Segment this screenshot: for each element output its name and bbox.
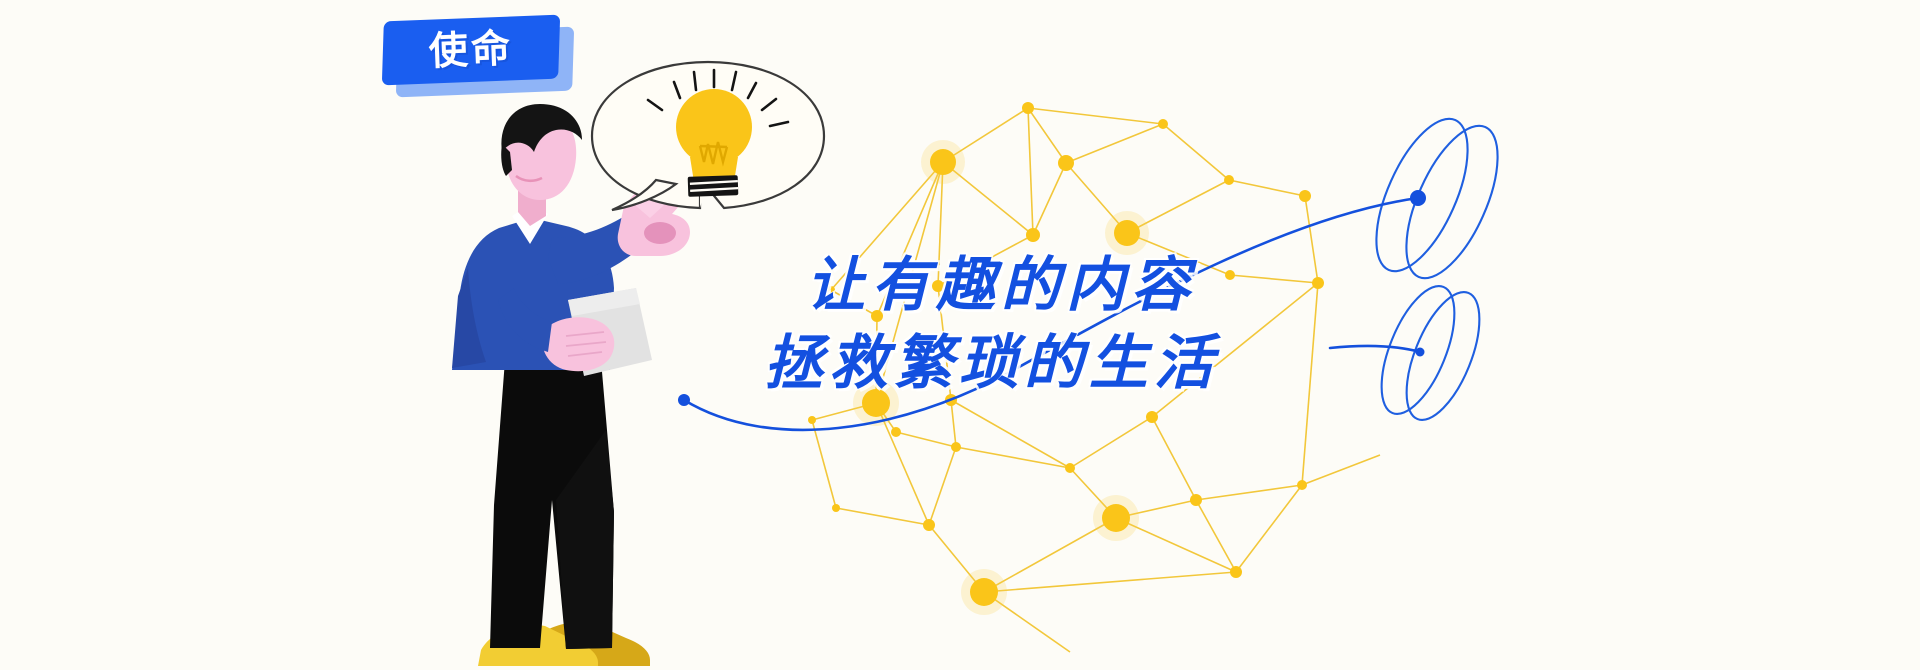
- idea-speech-bubble: [0, 0, 1920, 670]
- banner-canvas: 使命 让有趣的内容 拯救繁琐的生活: [0, 0, 1920, 670]
